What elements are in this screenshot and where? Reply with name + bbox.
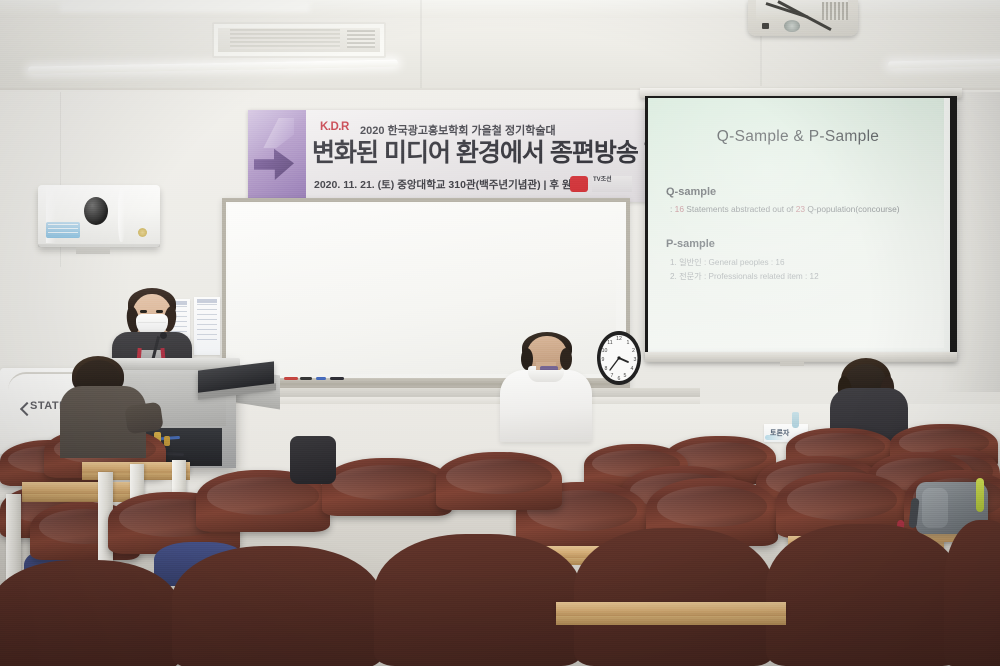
podium-knob[interactable] [164,436,170,446]
auditorium-seat [374,534,582,666]
svg-text:11: 11 [607,340,612,346]
face-mask-fold [138,322,166,323]
svg-text:1: 1 [627,340,630,346]
dispenser-badge-icon [138,228,147,237]
projector-port [762,23,769,29]
ceiling-projector [748,0,858,36]
auditorium-desk-edge [22,494,134,502]
dispenser-sensor-icon [84,197,108,225]
svg-text:8: 8 [605,366,608,372]
wall-notice [194,297,220,355]
svg-text:2: 2 [632,348,635,354]
svg-text:4: 4 [631,366,634,372]
attendee-center-hair-side [560,348,572,370]
auditorium-seat [574,528,774,666]
svg-text:3: 3 [634,357,637,363]
ceiling-skylight [60,0,310,12]
banner-lighting-overlay [248,110,658,202]
auditorium-desk-edge [556,616,786,625]
ceiling-tile-seam [420,0,422,92]
dispenser-highlight [118,188,125,242]
attendee-center-collar [528,370,564,382]
microphone-icon [160,332,167,339]
whiteboard-marker-black [300,377,312,380]
backpack-front-pocket [922,488,948,528]
projector-lens-icon [784,20,800,32]
svg-text:9: 9 [602,357,605,363]
presenter-eye [156,310,163,313]
vent-grill [230,29,340,49]
screen-glare [648,98,944,348]
vent-side-grill [347,30,375,48]
svg-text:5: 5 [624,373,627,379]
svg-text:7: 7 [611,373,614,379]
dispenser-label-text [48,224,78,236]
attendee-left-seated-legs [290,436,336,484]
auditorium-desk [22,482,134,494]
projector-vent [822,2,848,20]
auditorium-seat [322,458,452,516]
whiteboard-eraser [330,377,344,380]
conference-banner: K.D.R 2020 한국광고홍보학회 가을철 정기학술대 변화된 미디어 환경… [248,110,658,202]
auditorium-seat [436,452,562,510]
projection-screen-pull-tab [780,361,804,366]
lecture-hall-photo: K.D.R 2020 한국광고홍보학회 가을철 정기학술대 변화된 미디어 환경… [0,0,1000,666]
water-bottle [792,412,799,428]
svg-text:10: 10 [602,348,608,354]
svg-text:12: 12 [616,336,622,342]
notice-header [197,299,217,303]
air-conditioner-vent [212,22,386,58]
auditorium-seat [944,520,1000,666]
auditorium-seat [172,546,382,666]
wall-clock: 1212 345 678 91011 [596,330,642,386]
whiteboard-marker-red [284,377,298,380]
svg-text:6: 6 [618,376,621,382]
presenter-eye [140,310,147,313]
auditorium-seat [766,524,962,666]
dispenser-wall-mount [76,247,110,254]
whiteboard-marker-blue [316,377,326,380]
notice-text-lines [197,304,217,344]
auditorium-desk [556,602,786,616]
auditorium-seat [0,560,180,666]
attendee-left-arm [124,402,164,435]
placard-text: 토론자 [770,428,789,438]
backpack-strap-accent [976,478,984,512]
wall-corner-shadow [940,92,1000,392]
